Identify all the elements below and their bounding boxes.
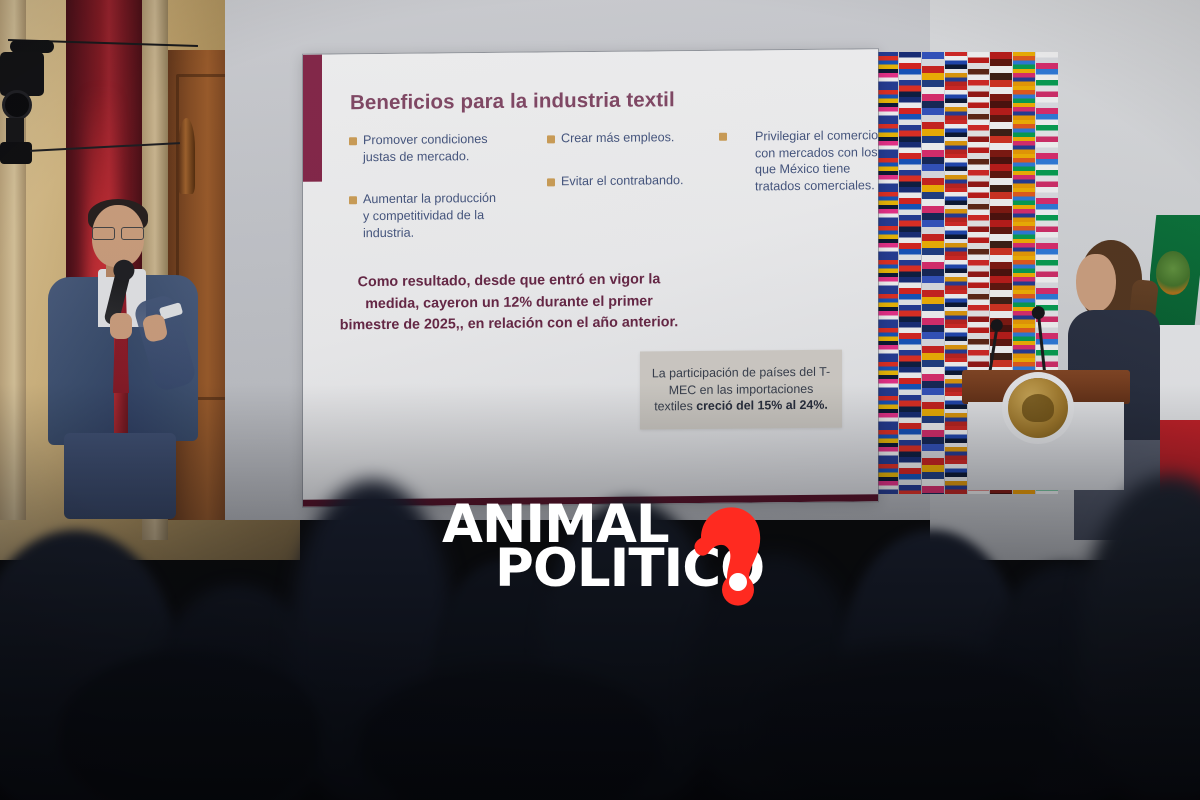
tripod-head	[0, 142, 32, 164]
audience-head	[1080, 475, 1200, 800]
bullet-text: Promover condiciones justas de mercado.	[363, 131, 501, 166]
wooden-finial	[178, 118, 195, 194]
slide-result-statement: Como resultado, desde que entró en vigor…	[339, 269, 679, 337]
list-item: Aumentar la producción y competitividad …	[349, 190, 501, 242]
bullet-text: Privilegiar el comercio con mercados con…	[755, 127, 878, 195]
list-item: Promover condiciones justas de mercado.	[349, 131, 501, 166]
bullet-column-3: Privilegiar el comercio con mercados con…	[719, 127, 878, 221]
elephant-logo-icon	[657, 492, 767, 610]
press-conference-photo: Beneficios para la industria textil Prom…	[0, 0, 1200, 800]
bullet-column-2: Crear más empleos. Evitar el contrabando…	[547, 129, 707, 216]
outlet-watermark: ANIMAL POLITICO	[442, 492, 762, 610]
bullet-square-icon	[349, 137, 357, 145]
bullet-square-icon	[349, 197, 357, 205]
eyeglasses-icon	[92, 227, 144, 238]
bullet-column-1: Promover condiciones justas de mercado. …	[349, 131, 501, 268]
slide-accent-bar	[303, 55, 322, 182]
slide-title: Beneficios para la industria textil	[350, 88, 675, 115]
bullet-square-icon	[547, 178, 555, 186]
broadcast-camera-icon	[0, 38, 56, 168]
bullet-text: Crear más empleos.	[561, 129, 674, 147]
bullet-text: Evitar el contrabando.	[561, 172, 684, 190]
bullet-text: Aumentar la producción y competitividad …	[363, 190, 501, 242]
audience-head	[760, 645, 1060, 800]
audience-head	[60, 650, 320, 800]
bullet-square-icon	[719, 133, 727, 141]
hand-holding-microphone	[110, 313, 132, 339]
list-item: Privilegiar el comercio con mercados con…	[719, 127, 878, 195]
slide-bullet-columns: Promover condiciones justas de mercado. …	[347, 127, 875, 132]
camera-lens	[2, 90, 32, 120]
bullet-square-icon	[547, 135, 555, 143]
camera-body	[0, 52, 44, 96]
list-item: Evitar el contrabando.	[547, 172, 707, 190]
list-item: Crear más empleos.	[547, 129, 707, 147]
face-profile	[1076, 254, 1116, 312]
